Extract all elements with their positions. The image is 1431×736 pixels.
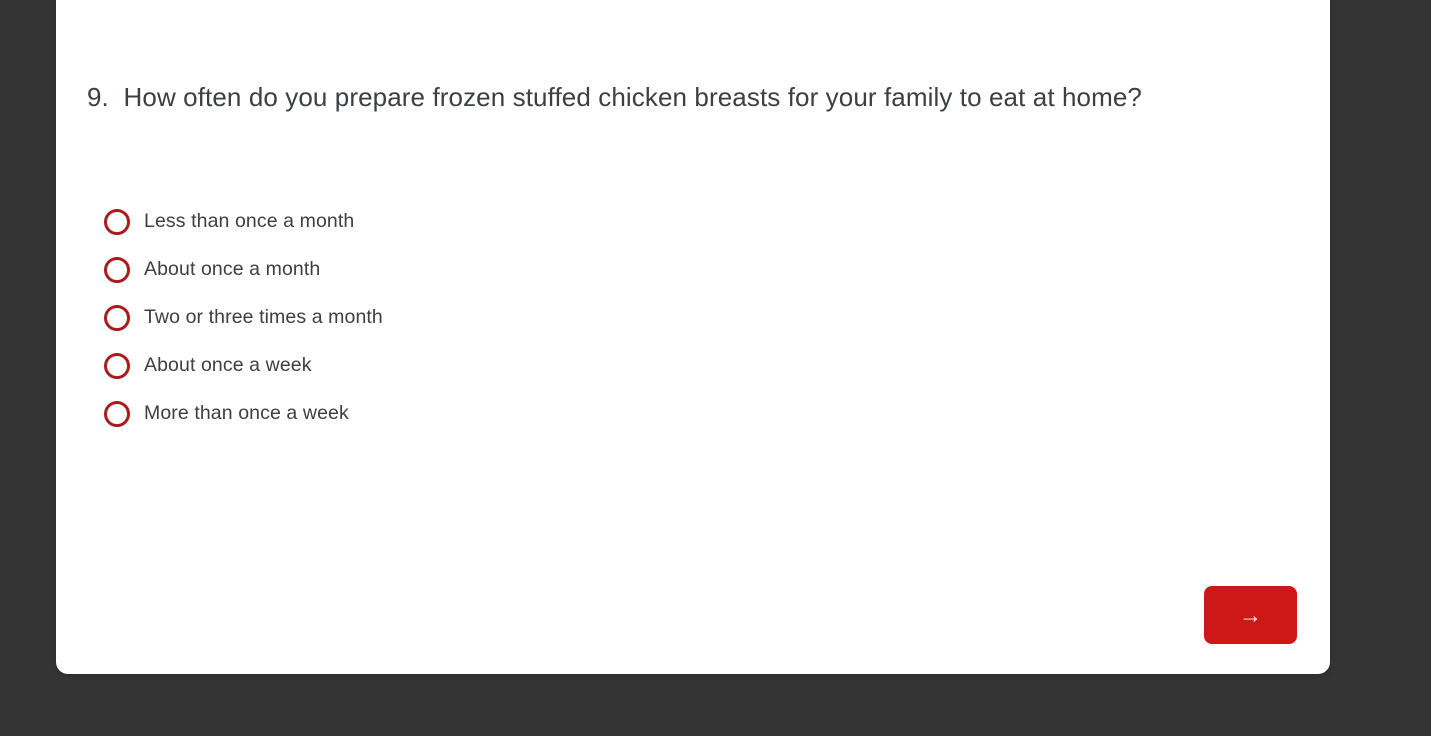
radio-button-icon[interactable] — [104, 209, 130, 235]
option-row-1[interactable]: About once a month — [104, 246, 1004, 294]
question-text: 9. How often do you prepare frozen stuff… — [87, 75, 1207, 119]
option-label: About once a week — [144, 356, 312, 376]
option-label: About once a month — [144, 260, 320, 280]
survey-card: 9. How often do you prepare frozen stuff… — [56, 0, 1330, 674]
next-question-button[interactable]: → — [1204, 586, 1297, 644]
option-row-0[interactable]: Less than once a month — [104, 198, 1004, 246]
radio-button-icon[interactable] — [104, 257, 130, 283]
option-row-3[interactable]: About once a week — [104, 342, 1004, 390]
radio-button-icon[interactable] — [104, 305, 130, 331]
option-row-4[interactable]: More than once a week — [104, 390, 1004, 438]
option-label: More than once a week — [144, 404, 349, 424]
radio-button-icon[interactable] — [104, 353, 130, 379]
options-list: Less than once a month About once a mont… — [104, 198, 1004, 438]
question-block: 9. How often do you prepare frozen stuff… — [87, 75, 1207, 119]
option-row-2[interactable]: Two or three times a month — [104, 294, 1004, 342]
option-label: Two or three times a month — [144, 308, 383, 328]
option-label: Less than once a month — [144, 212, 354, 232]
radio-button-icon[interactable] — [104, 401, 130, 427]
arrow-right-icon: → — [1204, 586, 1297, 644]
